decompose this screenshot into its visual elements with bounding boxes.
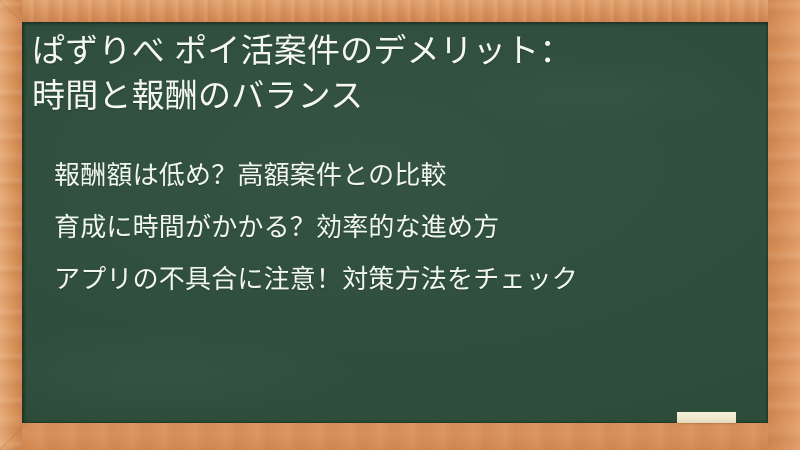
frame-rail-top	[0, 0, 800, 23]
frame-stile-left	[0, 0, 22, 450]
slide-canvas: ぱずりべ ポイ活案件のデメリット： 時間と報酬のバランス 報酬額は低め？高額案件…	[0, 0, 800, 450]
frame-ledge-bottom	[0, 423, 800, 450]
list-item: 育成に時間がかかる？効率的な進め方	[54, 201, 754, 253]
list-item: アプリの不具合に注意！対策方法をチェック	[54, 253, 754, 305]
chalk-stick-icon	[677, 412, 736, 423]
chalkboard-content: ぱずりべ ポイ活案件のデメリット： 時間と報酬のバランス 報酬額は低め？高額案件…	[22, 22, 768, 423]
list-item: 報酬額は低め？高額案件との比較	[54, 149, 754, 201]
frame-stile-right	[768, 0, 800, 450]
chalkboard-surface: ぱずりべ ポイ活案件のデメリット： 時間と報酬のバランス 報酬額は低め？高額案件…	[22, 22, 768, 423]
slide-title: ぱずりべ ポイ活案件のデメリット： 時間と報酬のバランス	[32, 28, 756, 118]
topic-list: 報酬額は低め？高額案件との比較 育成に時間がかかる？効率的な進め方 アプリの不具…	[54, 149, 754, 305]
